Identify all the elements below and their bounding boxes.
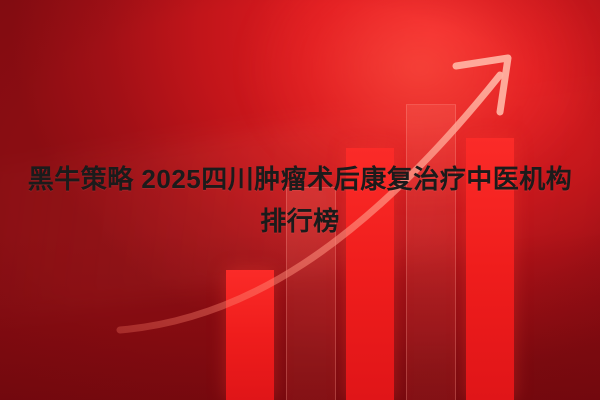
image-canvas: 黑牛策略 2025四川肿瘤术后康复治疗中医机构排行榜 [0,0,600,400]
headline-overlay: 黑牛策略 2025四川肿瘤术后康复治疗中医机构排行榜 [0,0,600,400]
headline-text: 黑牛策略 2025四川肿瘤术后康复治疗中医机构排行榜 [20,158,580,242]
